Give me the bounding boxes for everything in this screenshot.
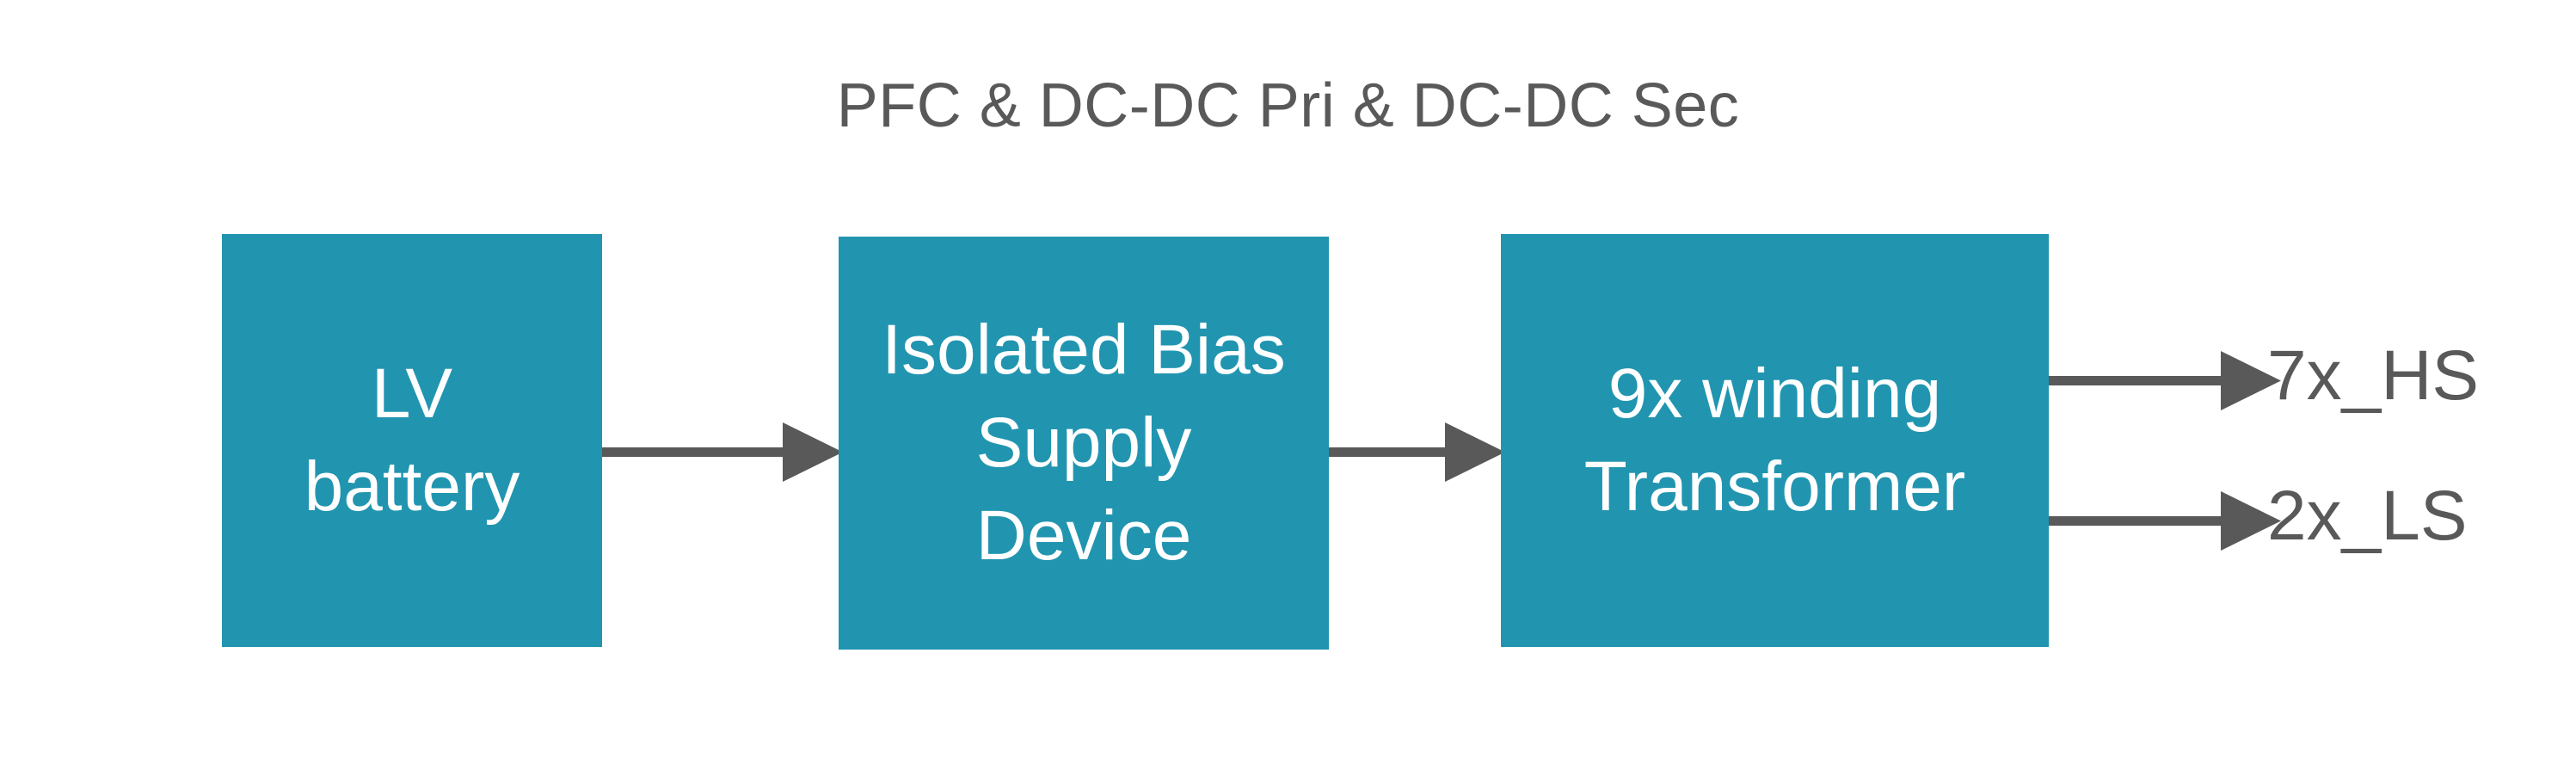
arrow-transformer-to-ls-icon xyxy=(2049,473,2281,568)
node-lv-battery-label: LV battery xyxy=(222,348,602,533)
arrow-bias-to-transformer-icon xyxy=(1329,404,1505,499)
node-transformer-label: 9x winding Transformer xyxy=(1501,348,2049,533)
node-isolated-bias-supply-device-label: Isolated Bias Supply Device xyxy=(839,304,1329,582)
output-label-ls: 2x_LS xyxy=(2267,475,2468,558)
node-transformer[interactable]: 9x winding Transformer xyxy=(1501,234,2049,647)
node-lv-battery[interactable]: LV battery xyxy=(222,234,602,647)
diagram-title: PFC & DC-DC Pri & DC-DC Sec xyxy=(0,67,2576,145)
node-isolated-bias-supply-device[interactable]: Isolated Bias Supply Device xyxy=(839,237,1329,650)
arrow-battery-to-bias-icon xyxy=(602,404,843,499)
diagram-canvas: PFC & DC-DC Pri & DC-DC Sec LV battery I… xyxy=(0,0,2576,764)
output-label-hs: 7x_HS xyxy=(2267,335,2479,417)
arrow-transformer-to-hs-icon xyxy=(2049,333,2281,428)
